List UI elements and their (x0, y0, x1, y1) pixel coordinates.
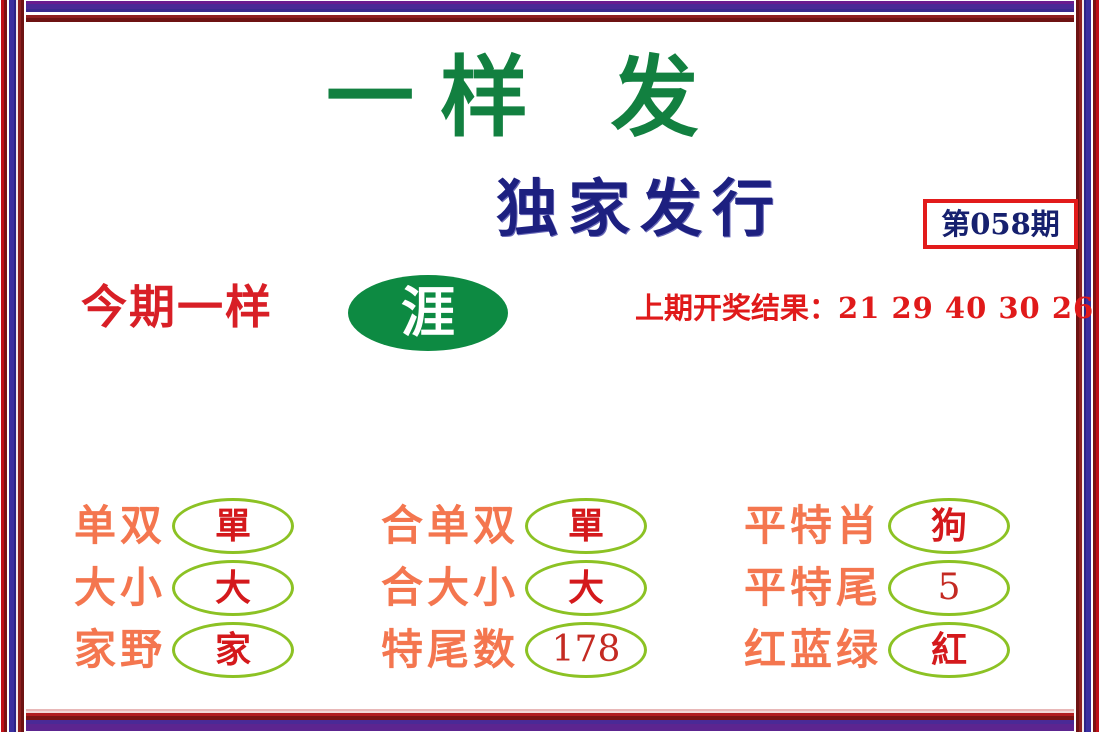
prediction-value: 5 (938, 570, 961, 606)
prediction-value: 狗 (931, 508, 967, 544)
prediction-cell-te-wei-shu: 特尾数 178 (381, 620, 711, 680)
poster-canvas: 一样 发 独家发行 第058期 今期一样 涯 上期开奖结果：21 29 40 3… (26, 26, 1074, 702)
decorative-border-left (0, 0, 26, 732)
previous-draw-numbers: 21 29 40 30 26 34+23 (838, 291, 1100, 325)
prediction-value: 單 (215, 508, 251, 544)
prediction-label: 平特肖 (744, 505, 882, 547)
prediction-label: 大小 (74, 567, 166, 609)
prediction-value: 178 (552, 632, 621, 668)
prediction-cell-he-dan-shuang: 合单双 單 (381, 496, 711, 556)
prediction-value: 單 (568, 508, 604, 544)
prediction-label: 特尾数 (381, 629, 519, 671)
prediction-value-ring: 狗 (888, 498, 1010, 554)
issue-number-box: 第058期 (923, 199, 1078, 249)
prediction-value-ring: 單 (525, 498, 647, 554)
prediction-value-ring: 5 (888, 560, 1010, 616)
today-label: 今期一样 (81, 284, 273, 330)
prediction-value: 家 (215, 632, 251, 668)
prediction-value: 大 (215, 570, 251, 606)
prediction-value: 大 (568, 570, 604, 606)
prediction-row: 家野 家 特尾数 178 红蓝绿 紅 (26, 620, 1100, 680)
today-value-text: 涯 (401, 285, 455, 339)
prediction-label: 红蓝绿 (744, 629, 882, 671)
prediction-row: 单双 單 合单双 單 平特肖 狗 (26, 496, 1100, 556)
decorative-border-bottom (0, 702, 1100, 732)
prediction-cell-jia-ye: 家野 家 (74, 620, 394, 680)
poster-subtitle: 独家发行 (496, 178, 784, 240)
prediction-value-ring: 大 (525, 560, 647, 616)
prediction-value-ring: 178 (525, 622, 647, 678)
prediction-label: 平特尾 (744, 567, 882, 609)
prediction-label: 合大小 (381, 567, 519, 609)
prediction-row: 大小 大 合大小 大 平特尾 5 (26, 558, 1100, 618)
decorative-border-top (0, 0, 1100, 26)
lottery-poster: 一样 发 独家发行 第058期 今期一样 涯 上期开奖结果：21 29 40 3… (0, 0, 1100, 732)
prediction-cell-ping-te-xiao: 平特肖 狗 (744, 496, 1084, 556)
previous-draw-result: 上期开奖结果：21 29 40 30 26 34+23 (635, 294, 1100, 323)
prediction-cell-ping-te-wei: 平特尾 5 (744, 558, 1084, 618)
prediction-value-ring: 家 (172, 622, 294, 678)
prediction-value: 紅 (931, 632, 967, 668)
prediction-cell-he-da-xiao: 合大小 大 (381, 558, 711, 618)
prediction-value-ring: 紅 (888, 622, 1010, 678)
prediction-cell-dan-shuang: 单双 單 (74, 496, 394, 556)
prediction-value-ring: 單 (172, 498, 294, 554)
prediction-label: 单双 (74, 505, 166, 547)
prediction-label: 家野 (74, 629, 166, 671)
prediction-cell-hong-lan-lv: 红蓝绿 紅 (744, 620, 1084, 680)
today-value-badge: 涯 (348, 275, 508, 351)
poster-main-title: 一样 发 (326, 54, 886, 142)
issue-number-text: 第058期 (941, 210, 1060, 239)
previous-draw-label: 上期开奖结果： (635, 291, 838, 325)
prediction-value-ring: 大 (172, 560, 294, 616)
prediction-cell-da-xiao: 大小 大 (74, 558, 394, 618)
prediction-grid: 单双 單 合单双 單 平特肖 狗 (26, 496, 1100, 691)
prediction-label: 合单双 (381, 505, 519, 547)
